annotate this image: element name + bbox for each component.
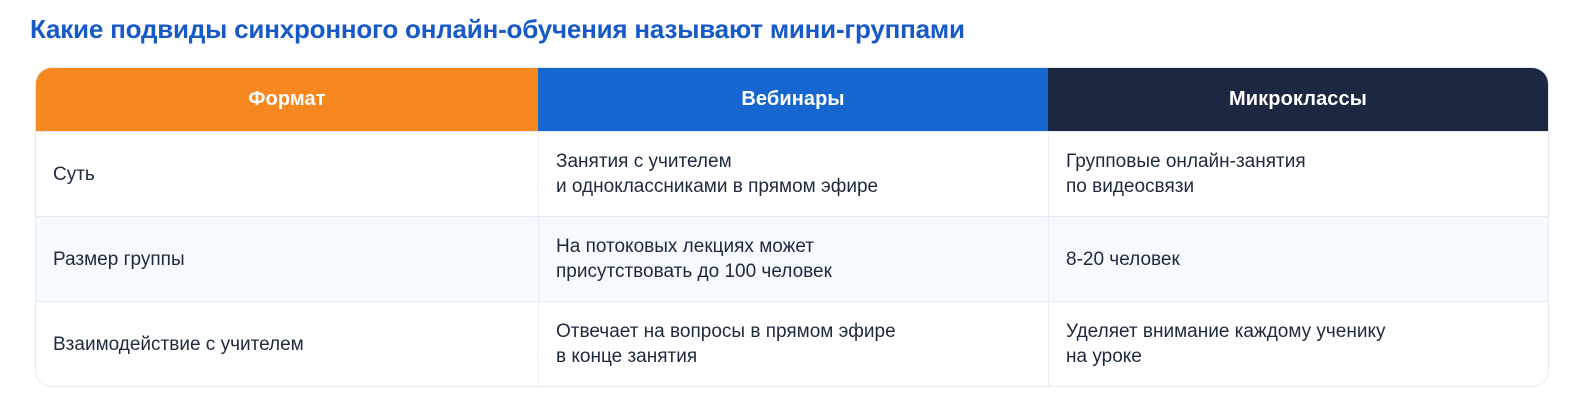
cell-text-line1: Уделяет внимание каждому ученику	[1066, 319, 1548, 344]
column-header-format: Формат	[36, 68, 538, 131]
cell-microclasses: Уделяет внимание каждому ученику на урок…	[1048, 301, 1548, 386]
table-row: Взаимодействие с учителем Отвечает на во…	[36, 301, 1548, 386]
cell-text-line1: Занятия с учителем	[556, 149, 1048, 174]
cell-text-line2: и одноклассниками в прямом эфире	[556, 174, 1048, 199]
cell-format: Размер группы	[36, 216, 538, 301]
cell-text-line1: 8-20 человек	[1066, 247, 1548, 272]
cell-text-line1: На потоковых лекциях может	[556, 234, 1048, 259]
cell-webinars: Отвечает на вопросы в прямом эфире в кон…	[538, 301, 1048, 386]
cell-text: Размер группы	[53, 247, 538, 272]
cell-microclasses: Групповые онлайн-занятия по видеосвязи	[1048, 131, 1548, 216]
page-title: Какие подвиды синхронного онлайн-обучени…	[30, 14, 965, 45]
table-row: Размер группы На потоковых лекциях может…	[36, 216, 1548, 301]
cell-text: Суть	[53, 162, 538, 187]
cell-webinars: На потоковых лекциях может присутствоват…	[538, 216, 1048, 301]
cell-text-line2: присутствовать до 100 человек	[556, 259, 1048, 284]
cell-format: Суть	[36, 131, 538, 216]
cell-text-line1: Групповые онлайн-занятия	[1066, 149, 1548, 174]
table-header: Формат Вебинары Микроклассы	[36, 68, 1548, 131]
cell-text-line2: по видеосвязи	[1066, 174, 1548, 199]
cell-webinars: Занятия с учителем и одноклассниками в п…	[538, 131, 1048, 216]
cell-format: Взаимодействие с учителем	[36, 301, 538, 386]
table-row: Суть Занятия с учителем и одноклассникам…	[36, 131, 1548, 216]
column-header-webinars: Вебинары	[538, 68, 1048, 131]
cell-microclasses: 8-20 человек	[1048, 216, 1548, 301]
cell-text-line1: Отвечает на вопросы в прямом эфире	[556, 319, 1048, 344]
table-body: Суть Занятия с учителем и одноклассникам…	[36, 131, 1548, 386]
cell-text-line2: в конце занятия	[556, 344, 1048, 369]
cell-text: Взаимодействие с учителем	[53, 332, 538, 357]
cell-text-line2: на уроке	[1066, 344, 1548, 369]
comparison-table: Формат Вебинары Микроклассы Суть Занятия…	[36, 68, 1548, 386]
column-header-microclasses: Микроклассы	[1048, 68, 1548, 131]
table-header-row: Формат Вебинары Микроклассы	[36, 68, 1548, 131]
